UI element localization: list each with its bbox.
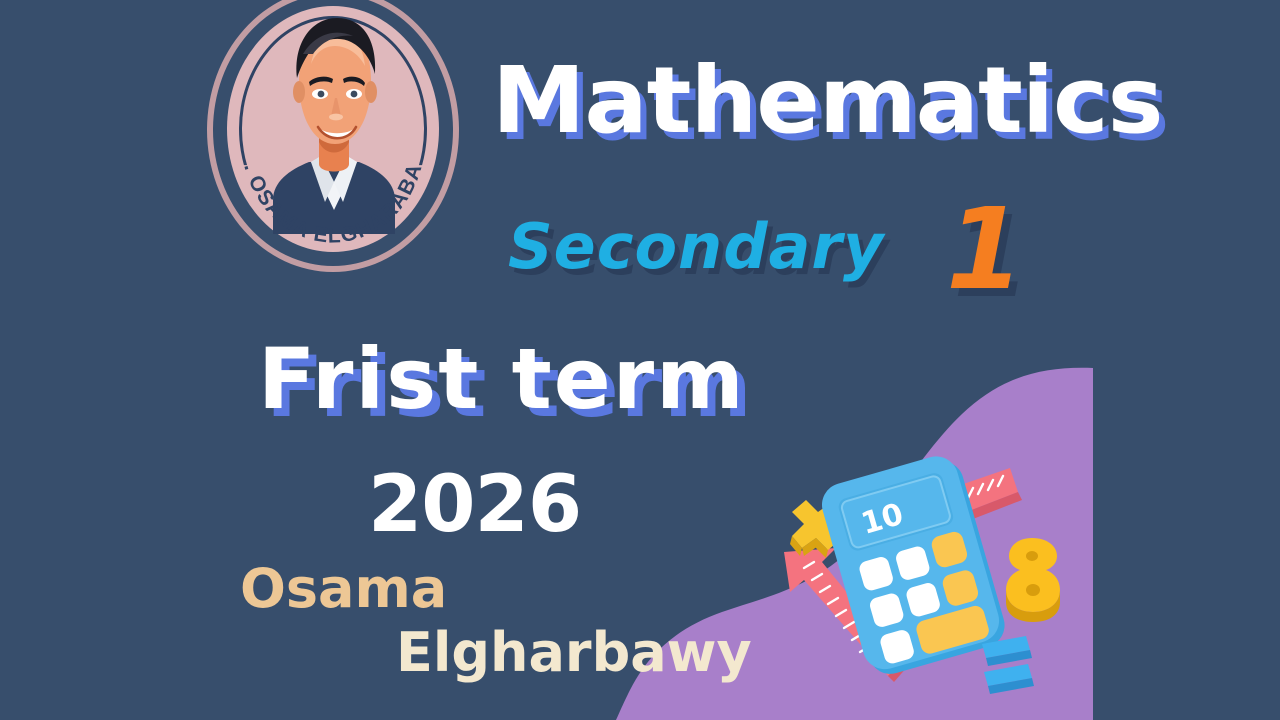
subject-title: Mathematics	[492, 55, 1162, 147]
stage-label: Secondary	[508, 216, 884, 278]
grade-number: 1	[946, 194, 1024, 306]
cover-canvas: MR. OSAMA ELGHARABAWY Mathematics Second…	[0, 0, 1280, 720]
badge-curved-text-label: MR. OSAMA ELGHARABAWY	[207, 0, 427, 248]
math-objects-illustration: 10	[760, 440, 1090, 720]
year-label: 2026	[368, 466, 581, 544]
author-last-name: Elgharbawy	[396, 626, 752, 680]
term-label: Frist term	[258, 337, 746, 421]
badge-curved-text: MR. OSAMA ELGHARABAWY	[207, 0, 459, 272]
author-first-name: Osama	[240, 562, 447, 616]
avatar-badge: MR. OSAMA ELGHARABAWY	[207, 0, 459, 272]
equals-sign-icon	[982, 636, 1034, 694]
digit-eight-icon	[1006, 538, 1060, 622]
